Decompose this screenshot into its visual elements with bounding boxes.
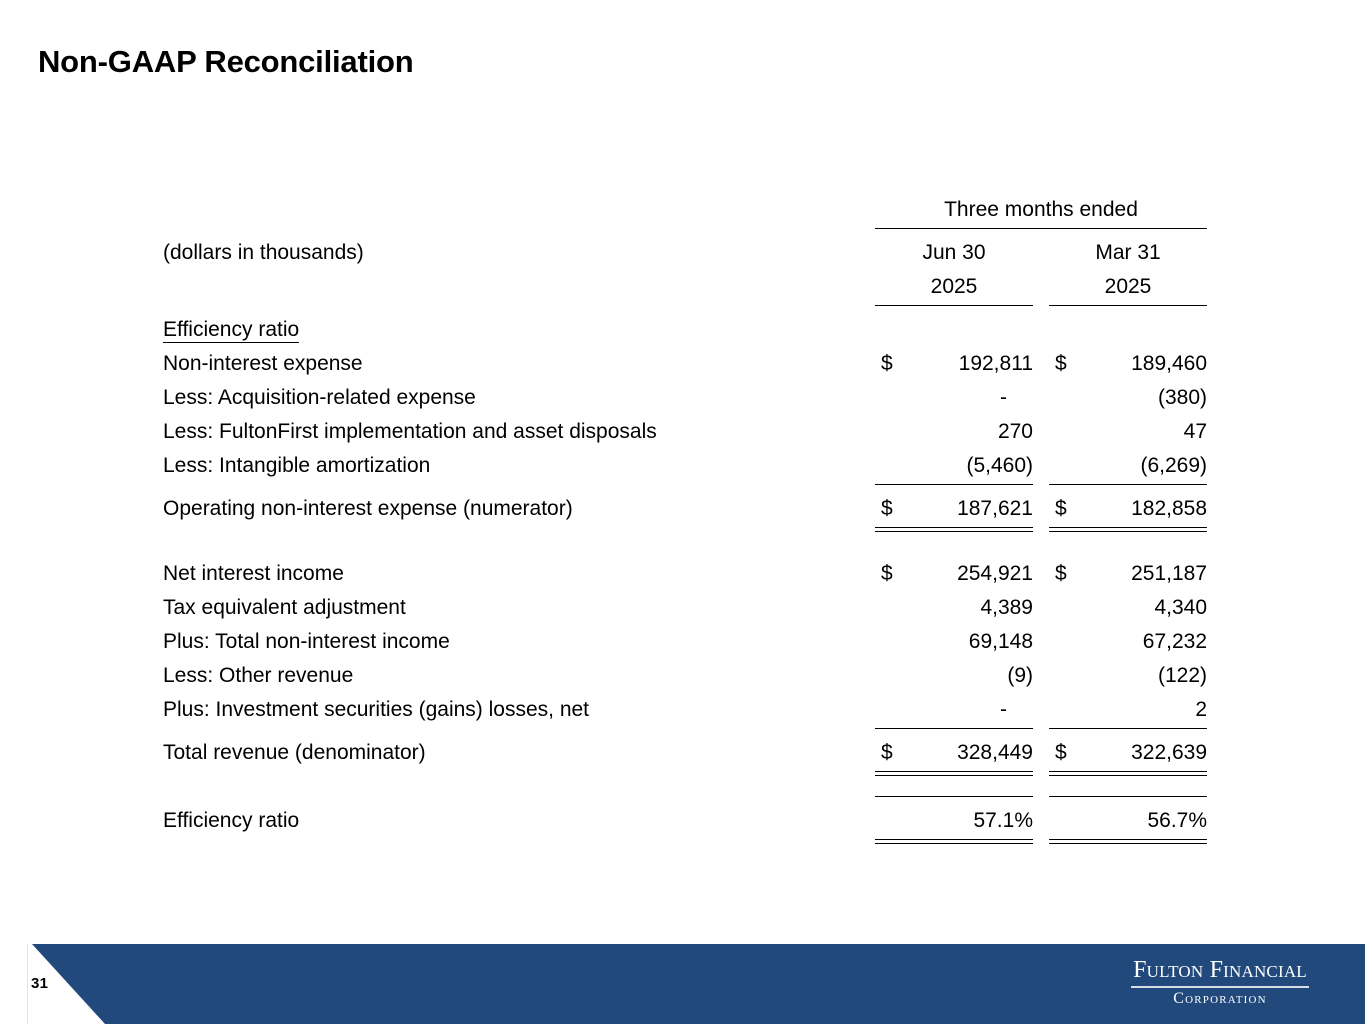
rule-spacer <box>163 831 875 840</box>
column-gap <box>1033 442 1049 476</box>
currency-symbol: $ <box>1055 498 1067 519</box>
figure: 47 <box>1184 421 1207 442</box>
table-row: Plus: Investment securities (gains) loss… <box>163 686 1207 720</box>
column-2-date: Mar 31 <box>1049 229 1207 264</box>
rule-column-2 <box>1049 788 1207 797</box>
rule-above-denominator-total <box>163 720 1207 729</box>
row-label: Efficiency ratio <box>163 797 875 832</box>
row-label: Plus: Investment securities (gains) loss… <box>163 686 875 720</box>
span-header-label: Three months ended <box>875 186 1207 220</box>
figure: - <box>1000 387 1033 408</box>
page-number: 31 <box>31 975 48 992</box>
column-gap <box>1033 229 1049 264</box>
row-value-col2: 47 <box>1049 408 1207 442</box>
column-gap <box>1033 408 1049 442</box>
row-value-col2: 56.7% <box>1049 797 1207 832</box>
table-row: Plus: Total non-interest income 69,148 6… <box>163 618 1207 652</box>
figure: 69,148 <box>969 631 1033 652</box>
row-value-col1: - <box>875 374 1033 408</box>
row-value-col2: $251,187 <box>1049 550 1207 584</box>
table-header-span-row: Three months ended <box>163 186 1207 220</box>
row-label: Net interest income <box>163 550 875 584</box>
row-value-col1: - <box>875 686 1033 720</box>
double-rule-under-ratio-row <box>163 831 1207 840</box>
figure: (122) <box>1158 665 1207 686</box>
currency-symbol: $ <box>1055 353 1067 374</box>
column-gap <box>1033 797 1049 832</box>
rule-column-1 <box>875 831 1033 840</box>
figure: - <box>1000 699 1033 720</box>
table-row: Tax equivalent adjustment 4,389 4,340 <box>163 584 1207 618</box>
row-label: Non-interest expense <box>163 340 875 374</box>
double-rule-under-numerator-total <box>163 519 1207 528</box>
column-gap <box>1033 618 1049 652</box>
column-gap <box>1033 686 1049 720</box>
empty-cell <box>1049 306 1207 341</box>
page-title: Non-GAAP Reconciliation <box>38 44 413 80</box>
rule-above-ratio-row <box>163 788 1207 797</box>
currency-symbol: $ <box>1055 563 1067 584</box>
figure: 4,340 <box>1154 597 1207 618</box>
figure: 182,858 <box>1131 498 1207 519</box>
rule-under-year-row <box>163 297 1207 306</box>
column-gap <box>1033 306 1049 341</box>
efficiency-ratio-row: Efficiency ratio 57.1% 56.7% <box>163 797 1207 832</box>
column-gap <box>1033 729 1049 764</box>
rule-gap <box>1033 763 1049 772</box>
recon-table: Three months ended (dollars in thousands… <box>163 186 1207 840</box>
rule-spacer <box>163 763 875 772</box>
rule-spacer <box>163 297 875 306</box>
row-value-col1: $254,921 <box>875 550 1033 584</box>
logo-primary-text: Fulton Financial <box>1131 958 1309 982</box>
spacer-cell <box>163 772 875 789</box>
figure: 187,621 <box>957 498 1033 519</box>
currency-symbol: $ <box>881 353 893 374</box>
rule-spacer <box>163 720 875 729</box>
row-value-col1: $192,811 <box>875 340 1033 374</box>
rule-column-1 <box>875 297 1033 306</box>
rule-column-2 <box>1049 763 1207 772</box>
figure: (5,460) <box>966 455 1033 476</box>
spacer-cell <box>163 528 875 551</box>
row-value-col2: (122) <box>1049 652 1207 686</box>
figure: 328,449 <box>957 742 1033 763</box>
row-value-col2: $322,639 <box>1049 729 1207 764</box>
row-label: Plus: Total non-interest income <box>163 618 875 652</box>
section-heading-row: Efficiency ratio <box>163 306 1207 341</box>
column-1-year: 2025 <box>875 263 1033 297</box>
figure: 192,811 <box>959 353 1033 374</box>
rule-column-1 <box>875 720 1033 729</box>
row-value-col1: 270 <box>875 408 1033 442</box>
figure: 4,389 <box>980 597 1033 618</box>
figure: 57.1% <box>973 810 1033 831</box>
row-value-col1: $328,449 <box>875 729 1033 764</box>
spacer-cell <box>163 186 875 220</box>
rule-gap <box>1033 831 1049 840</box>
rule-gap <box>1033 297 1049 306</box>
row-label: Total revenue (denominator) <box>163 729 875 764</box>
currency-symbol: $ <box>881 742 893 763</box>
row-value-col1: 4,389 <box>875 584 1033 618</box>
rule-spacer <box>163 476 875 485</box>
row-value-col2: (6,269) <box>1049 442 1207 476</box>
section-heading-efficiency-ratio: Efficiency ratio <box>163 306 875 341</box>
row-value-col2: 67,232 <box>1049 618 1207 652</box>
ratio-spacer <box>163 772 1207 789</box>
currency-symbol: $ <box>881 498 893 519</box>
rule-gap <box>1033 788 1049 797</box>
figure: 322,639 <box>1131 742 1207 763</box>
figure: 2 <box>1195 699 1207 720</box>
figure: 270 <box>998 421 1033 442</box>
column-gap <box>1033 584 1049 618</box>
spacer-cell <box>1033 528 1049 551</box>
figure: (380) <box>1158 387 1207 408</box>
row-label: Less: Intangible amortization <box>163 442 875 476</box>
non-gaap-reconciliation-table: Three months ended (dollars in thousands… <box>163 186 1183 840</box>
row-value-col1: (5,460) <box>875 442 1033 476</box>
rule-column-1 <box>875 519 1033 528</box>
rule-column-2 <box>1049 297 1207 306</box>
table-header-date-row: (dollars in thousands) Jun 30 Mar 31 <box>163 229 1207 264</box>
column-gap <box>1033 374 1049 408</box>
table-row: Non-interest expense $192,811 $189,460 <box>163 340 1207 374</box>
column-1-date: Jun 30 <box>875 229 1033 264</box>
row-value-col1: (9) <box>875 652 1033 686</box>
rule-gap <box>1033 720 1049 729</box>
row-value-col1: 69,148 <box>875 618 1033 652</box>
table-header-year-row: 2025 2025 <box>163 263 1207 297</box>
double-rule-under-denominator-total <box>163 763 1207 772</box>
left-margin-hairline <box>27 944 28 1024</box>
header-year-spacer <box>163 263 875 297</box>
logo-secondary-text: Corporation <box>1131 991 1309 1007</box>
figure: 56.7% <box>1147 810 1207 831</box>
row-label: Tax equivalent adjustment <box>163 584 875 618</box>
column-gap <box>1033 550 1049 584</box>
currency-symbol: $ <box>1055 742 1067 763</box>
rule-spacer <box>163 220 875 229</box>
row-label: Less: Other revenue <box>163 652 875 686</box>
row-value-col2: $189,460 <box>1049 340 1207 374</box>
empty-cell <box>875 306 1033 341</box>
table-row: Net interest income $254,921 $251,187 <box>163 550 1207 584</box>
column-gap <box>1033 485 1049 520</box>
rule-column-1 <box>875 763 1033 772</box>
rule-column-2 <box>1049 831 1207 840</box>
rule-column-2 <box>1049 476 1207 485</box>
rule-gap <box>1033 519 1049 528</box>
spacer-cell <box>1033 772 1049 789</box>
currency-symbol: $ <box>881 563 893 584</box>
row-value-col2: 4,340 <box>1049 584 1207 618</box>
rule-column-1 <box>875 476 1033 485</box>
rule-gap <box>1033 476 1049 485</box>
rule-column-2 <box>1049 519 1207 528</box>
units-label: (dollars in thousands) <box>163 229 875 264</box>
table-row: Less: FultonFirst implementation and ass… <box>163 408 1207 442</box>
rule-spacer <box>163 788 875 797</box>
fulton-financial-logo: Fulton Financial Corporation <box>1131 958 1309 1007</box>
row-value-col2: $182,858 <box>1049 485 1207 520</box>
row-value-col2: 2 <box>1049 686 1207 720</box>
row-label: Less: Acquisition-related expense <box>163 374 875 408</box>
spacer-cell <box>1049 772 1207 789</box>
spacer-cell <box>875 772 1033 789</box>
rule-above-numerator-total <box>163 476 1207 485</box>
figure: 254,921 <box>957 563 1033 584</box>
row-value-col2: (380) <box>1049 374 1207 408</box>
figure: (9) <box>1007 665 1033 686</box>
column-2-year: 2025 <box>1049 263 1207 297</box>
total-row-numerator: Operating non-interest expense (numerato… <box>163 485 1207 520</box>
rule-span <box>875 220 1207 229</box>
figure: (6,269) <box>1140 455 1207 476</box>
column-gap <box>1033 263 1049 297</box>
column-gap <box>1033 652 1049 686</box>
row-value-col1: 57.1% <box>875 797 1033 832</box>
table-row: Less: Acquisition-related expense - (380… <box>163 374 1207 408</box>
column-gap <box>1033 340 1049 374</box>
total-row-denominator: Total revenue (denominator) $328,449 $32… <box>163 729 1207 764</box>
rule-column-2 <box>1049 720 1207 729</box>
row-value-col1: $187,621 <box>875 485 1033 520</box>
row-label: Less: FultonFirst implementation and ass… <box>163 408 875 442</box>
rule-under-span-header <box>163 220 1207 229</box>
table-row: Less: Other revenue (9) (122) <box>163 652 1207 686</box>
figure: 67,232 <box>1143 631 1207 652</box>
rule-spacer <box>163 519 875 528</box>
figure: 251,187 <box>1131 563 1207 584</box>
row-label: Operating non-interest expense (numerato… <box>163 485 875 520</box>
logo-divider-rule <box>1131 986 1309 988</box>
figure: 189,460 <box>1131 353 1207 374</box>
table-row: Less: Intangible amortization (5,460) (6… <box>163 442 1207 476</box>
rule-column-1 <box>875 788 1033 797</box>
